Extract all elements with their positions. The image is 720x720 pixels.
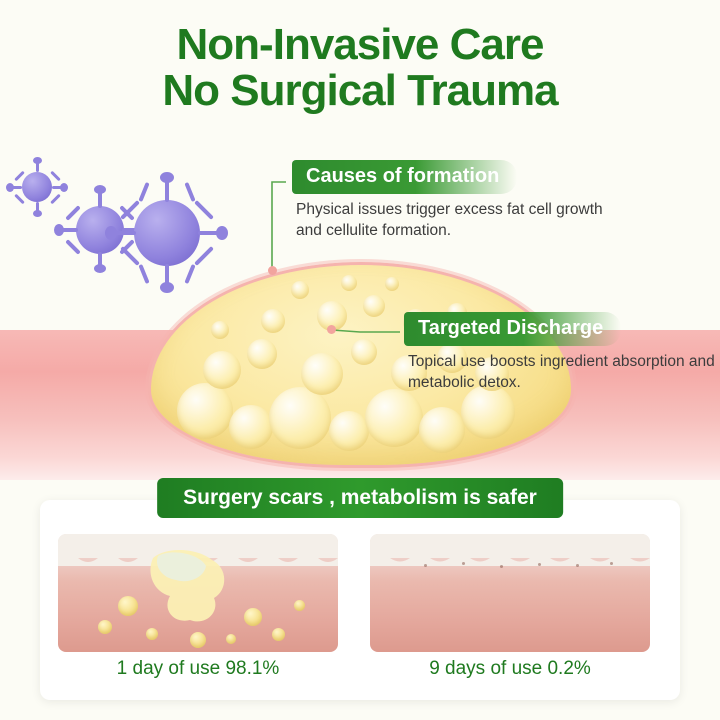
- poster-root: Non-Invasive Care No Surgical Trauma: [0, 0, 720, 720]
- virus-icon: [10, 160, 64, 214]
- comparison-card: Surgery scars , metabolism is safer: [40, 500, 680, 700]
- callout-body: Topical use boosts ingredient absorption…: [404, 352, 720, 394]
- panel-caption-after: 9 days of use 0.2%: [370, 658, 650, 680]
- skin-panel-after: [370, 534, 650, 652]
- skin-surface-wave: [370, 548, 650, 566]
- virus-icon: [112, 178, 222, 288]
- headline-line-2: No Surgical Trauma: [0, 68, 720, 114]
- anchor-dot-mid: [327, 325, 336, 334]
- callout-tag: Targeted Discharge: [404, 312, 621, 346]
- headline-line-1: Non-Invasive Care: [0, 22, 720, 68]
- anchor-dot-top: [268, 266, 277, 275]
- callout-causes-of-formation: Causes of formation Physical issues trig…: [292, 160, 626, 242]
- callout-body: Physical issues trigger excess fat cell …: [292, 200, 626, 242]
- page-title: Non-Invasive Care No Surgical Trauma: [0, 22, 720, 114]
- callout-tag: Causes of formation: [292, 160, 517, 194]
- skin-panel-before: [58, 534, 338, 652]
- callout-targeted-discharge: Targeted Discharge Topical use boosts in…: [404, 312, 720, 394]
- panel-caption-before: 1 day of use 98.1%: [58, 658, 338, 680]
- comparison-banner: Surgery scars , metabolism is safer: [157, 478, 563, 518]
